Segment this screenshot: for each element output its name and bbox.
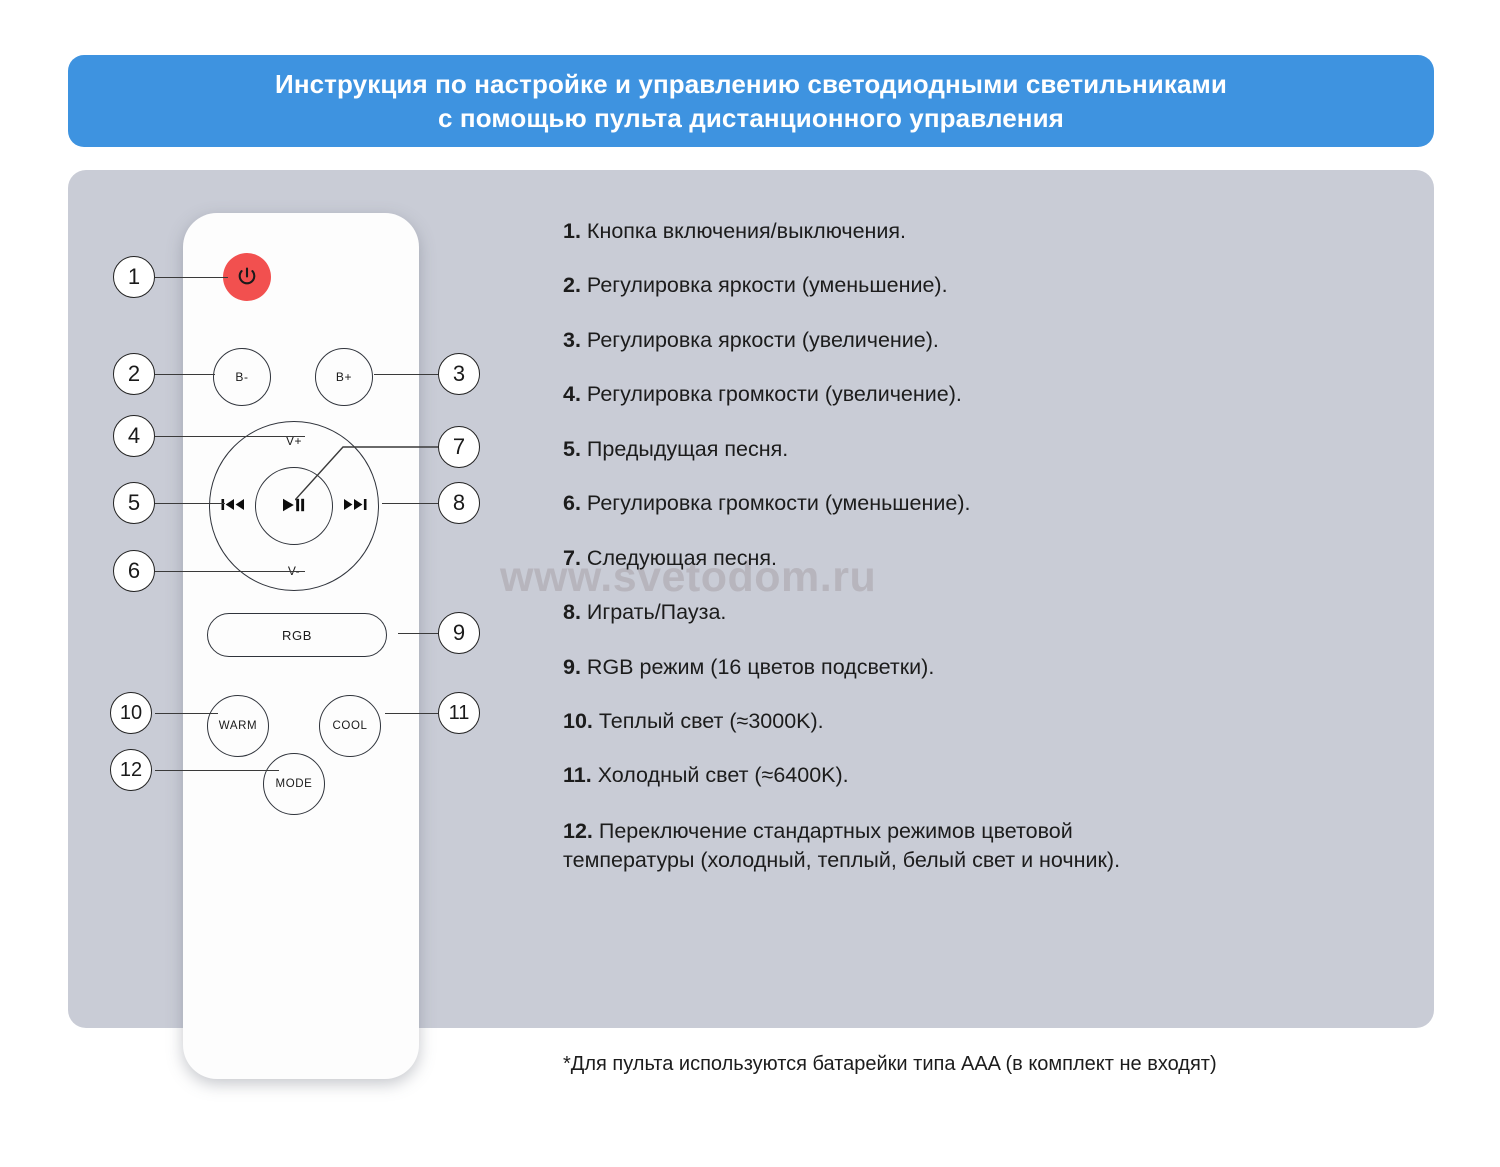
callout-7[interactable]: 7 — [438, 426, 480, 468]
list-item: 5. Предыдущая песня. — [563, 436, 1183, 464]
callout-label: 1 — [128, 264, 140, 290]
list-item: 11. Холодный свет (≈6400K). — [563, 762, 1183, 790]
callout-label: 11 — [449, 702, 470, 725]
list-item-number: 11. — [563, 763, 592, 787]
list-item-text: Регулировка громкости (увеличение). — [587, 382, 962, 406]
callout-3[interactable]: 3 — [438, 353, 480, 395]
callout-label: 10 — [120, 702, 142, 725]
list-item-text: Кнопка включения/выключения. — [587, 219, 906, 243]
callout-label: 12 — [120, 759, 142, 782]
list-item: 1. Кнопка включения/выключения. — [563, 218, 1183, 246]
list-item-number: 12. — [563, 819, 593, 843]
callout-label: 5 — [128, 490, 140, 516]
callout-label: 6 — [128, 558, 140, 584]
list-item: 4. Регулировка громкости (увеличение). — [563, 381, 1183, 409]
brightness-up-button[interactable]: B+ — [315, 348, 373, 406]
list-item-text: Холодный свет (≈6400K). — [598, 763, 849, 787]
callout-4[interactable]: 4 — [113, 415, 155, 457]
list-item-number: 9. — [563, 655, 581, 679]
cool-button[interactable]: COOL — [319, 695, 381, 757]
next-track-icon — [343, 501, 367, 515]
rgb-button[interactable]: RGB — [207, 613, 387, 657]
leader-line-3 — [374, 374, 438, 375]
list-item: 2. Регулировка яркости (уменьшение). — [563, 272, 1183, 300]
list-item-text: Регулировка яркости (увеличение). — [587, 328, 939, 352]
list-item-text: Предыдущая песня. — [587, 437, 788, 461]
list-item: 10. Теплый свет (≈3000K). — [563, 708, 1183, 736]
callout-2[interactable]: 2 — [113, 353, 155, 395]
list-item-number: 4. — [563, 382, 581, 406]
leader-line-11 — [385, 713, 438, 714]
callout-label: 2 — [128, 361, 140, 387]
leader-line-6 — [155, 571, 305, 572]
list-item: 8. Играть/Пауза. — [563, 599, 1183, 627]
list-item-number: 10. — [563, 709, 593, 733]
leader-line-9 — [398, 633, 438, 634]
brightness-down-label: B- — [235, 370, 248, 384]
list-item-text: Регулировка яркости (уменьшение). — [587, 273, 948, 297]
callout-label: 9 — [453, 620, 465, 646]
page-title: Инструкция по настройке и управлению све… — [235, 67, 1267, 136]
cool-label: COOL — [333, 720, 368, 732]
leader-line-2 — [155, 374, 215, 375]
instruction-list: 1. Кнопка включения/выключения. 2. Регул… — [563, 218, 1183, 901]
list-item-number: 8. — [563, 600, 581, 624]
callout-1[interactable]: 1 — [113, 256, 155, 298]
list-item: 7. Следующая песня. — [563, 545, 1183, 573]
list-item: 9. RGB режим (16 цветов подсветки). — [563, 654, 1183, 682]
previous-track-button[interactable] — [221, 498, 245, 515]
leader-line-4 — [155, 436, 305, 437]
callout-10[interactable]: 10 — [110, 692, 152, 734]
list-item-number: 6. — [563, 491, 581, 515]
play-pause-button[interactable] — [255, 467, 333, 545]
list-item: 3. Регулировка яркости (увеличение). — [563, 327, 1183, 355]
list-item: 12. Переключение стандартных режимов цве… — [563, 817, 1183, 875]
list-item-text: Теплый свет (≈3000K). — [599, 709, 824, 733]
leader-line-5 — [155, 503, 225, 504]
list-item: 6. Регулировка громкости (уменьшение). — [563, 490, 1183, 518]
list-item-number: 2. — [563, 273, 581, 297]
brightness-up-label: B+ — [336, 370, 352, 384]
callout-6[interactable]: 6 — [113, 550, 155, 592]
callout-12[interactable]: 12 — [110, 749, 152, 791]
brightness-down-button[interactable]: B- — [213, 348, 271, 406]
callout-label: 4 — [128, 423, 140, 449]
leader-line-8 — [382, 503, 438, 504]
callout-label: 8 — [453, 490, 465, 516]
callout-5[interactable]: 5 — [113, 482, 155, 524]
leader-line-10 — [155, 713, 218, 714]
rgb-label: RGB — [282, 628, 312, 643]
navigation-ring[interactable]: V+ V- — [209, 421, 379, 591]
list-item-text: Переключение стандартных режимов цветово… — [563, 819, 1120, 872]
list-item-number: 3. — [563, 328, 581, 352]
power-icon — [234, 264, 260, 290]
list-item-text: RGB режим (16 цветов подсветки). — [587, 655, 934, 679]
leader-line-1 — [155, 277, 228, 278]
footnote: *Для пульта используются батарейки типа … — [563, 1053, 1217, 1076]
power-button[interactable] — [223, 253, 271, 301]
mode-button[interactable]: MODE — [263, 753, 325, 815]
mode-label: MODE — [276, 778, 313, 790]
list-item-text: Следующая песня. — [587, 546, 777, 570]
callout-label: 7 — [453, 434, 465, 460]
leader-line-12 — [155, 770, 279, 771]
header-banner: Инструкция по настройке и управлению све… — [68, 55, 1434, 147]
callout-8[interactable]: 8 — [438, 482, 480, 524]
remote-control-body: B- B+ V+ V- — [183, 213, 419, 1079]
play-pause-icon — [281, 497, 307, 516]
list-item-number: 1. — [563, 219, 581, 243]
list-item-number: 5. — [563, 437, 581, 461]
list-item-text: Играть/Пауза. — [587, 600, 726, 624]
callout-label: 3 — [453, 361, 465, 387]
warm-label: WARM — [219, 720, 257, 732]
callout-9[interactable]: 9 — [438, 612, 480, 654]
next-track-button[interactable] — [343, 498, 367, 515]
list-item-text: Регулировка громкости (уменьшение). — [587, 491, 971, 515]
list-item-number: 7. — [563, 546, 581, 570]
callout-11[interactable]: 11 — [438, 692, 480, 734]
warm-button[interactable]: WARM — [207, 695, 269, 757]
